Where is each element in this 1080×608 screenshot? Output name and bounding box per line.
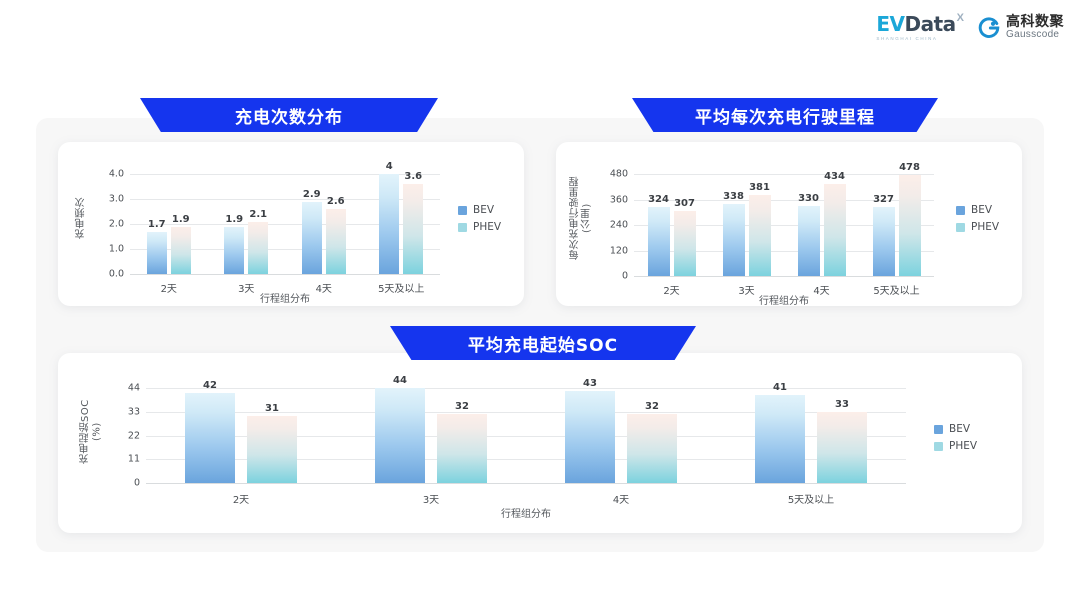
bar-bev[interactable]: 338 bbox=[723, 204, 745, 276]
bar-group: 338381 bbox=[709, 164, 784, 276]
bar-value-label: 1.9 bbox=[172, 214, 190, 225]
bar-value-label: 3.6 bbox=[404, 171, 422, 182]
bar-group: 4133 bbox=[716, 379, 906, 483]
legend-label: BEV bbox=[971, 204, 992, 216]
bar-bev[interactable]: 327 bbox=[873, 207, 895, 276]
chart-legend: BEVPHEV bbox=[934, 423, 977, 452]
chart-title-banner-1: 充电次数分布 bbox=[140, 98, 438, 132]
bar-value-label: 2.9 bbox=[303, 189, 321, 200]
bar-group: 4231 bbox=[146, 379, 336, 483]
bar-group: 43.6 bbox=[363, 164, 441, 274]
bar-value-label: 32 bbox=[645, 401, 659, 412]
bar-group: 2.92.6 bbox=[285, 164, 363, 274]
slide-page: EVData X SHANGHAI CHINA 高科数聚 Gausscode 充… bbox=[0, 0, 1080, 608]
bar-value-label: 1.7 bbox=[148, 219, 166, 230]
bar-value-label: 4 bbox=[386, 161, 393, 172]
bar-phev[interactable]: 381 bbox=[749, 195, 771, 276]
chart-title-banner-3: 平均充电起始SOC bbox=[390, 326, 696, 360]
legend-item-bev[interactable]: BEV bbox=[934, 423, 977, 435]
bar-value-label: 2.6 bbox=[327, 196, 345, 207]
legend-swatch-bev bbox=[956, 206, 965, 215]
chart-legend: BEVPHEV bbox=[956, 204, 999, 233]
bar-phev[interactable]: 2.6 bbox=[326, 209, 346, 274]
y-axis-tick: 44 bbox=[100, 383, 140, 394]
y-axis-tick: 0.0 bbox=[84, 269, 124, 280]
legend-swatch-phev bbox=[934, 442, 943, 451]
chart-card-charging-frequency: 充电频次0.01.02.03.04.01.71.92天1.92.13天2.92.… bbox=[58, 142, 524, 306]
evdata-suffix: Data bbox=[905, 12, 956, 36]
legend-item-phev[interactable]: PHEV bbox=[934, 440, 977, 452]
bar-value-label: 42 bbox=[203, 380, 217, 391]
y-axis-tick: 360 bbox=[588, 194, 628, 205]
bar-value-label: 307 bbox=[674, 198, 695, 209]
bar-value-label: 327 bbox=[873, 194, 894, 205]
bar-bev[interactable]: 4 bbox=[379, 174, 399, 274]
chart-mileage-per-charge: 每次充电行驶里程 (公里)01202403604803243072天338381… bbox=[556, 142, 1022, 306]
x-axis-label: 行程组分布 bbox=[634, 292, 934, 307]
x-axis-label: 行程组分布 bbox=[130, 290, 440, 305]
legend-item-bev[interactable]: BEV bbox=[956, 204, 999, 216]
brand-logo-row: EVData X SHANGHAI CHINA 高科数聚 Gausscode bbox=[876, 14, 1064, 41]
x-axis-category-label: 2天 bbox=[146, 491, 336, 506]
x-axis-category-label: 5天及以上 bbox=[716, 491, 906, 506]
bar-group: 1.71.9 bbox=[130, 164, 208, 274]
y-axis-tick: 1.0 bbox=[84, 244, 124, 255]
legend-label: BEV bbox=[949, 423, 970, 435]
y-axis-tick: 480 bbox=[588, 169, 628, 180]
bar-value-label: 41 bbox=[773, 382, 787, 393]
bar-phev[interactable]: 434 bbox=[824, 184, 846, 276]
y-axis-tick: 4.0 bbox=[84, 169, 124, 180]
bar-group: 324307 bbox=[634, 164, 709, 276]
bar-phev[interactable]: 32 bbox=[627, 414, 677, 483]
bar-value-label: 1.9 bbox=[225, 214, 243, 225]
evdata-prefix: EV bbox=[876, 12, 904, 36]
y-axis-tick: 0 bbox=[588, 271, 628, 282]
legend-item-phev[interactable]: PHEV bbox=[458, 221, 501, 233]
bar-bev[interactable]: 330 bbox=[798, 206, 820, 276]
y-axis-tick: 3.0 bbox=[84, 194, 124, 205]
bar-value-label: 31 bbox=[265, 403, 279, 414]
evdata-logo: EVData X SHANGHAI CHINA bbox=[876, 14, 964, 41]
bar-value-label: 32 bbox=[455, 401, 469, 412]
gausscode-text: 高科数聚 Gausscode bbox=[1006, 15, 1064, 40]
bar-phev[interactable]: 478 bbox=[899, 175, 921, 276]
legend-swatch-bev bbox=[458, 206, 467, 215]
y-axis-tick: 0 bbox=[100, 478, 140, 489]
bar-value-label: 324 bbox=[648, 194, 669, 205]
chart-charging-frequency: 充电频次0.01.02.03.04.01.71.92天1.92.13天2.92.… bbox=[58, 142, 524, 306]
gausscode-cn-name: 高科数聚 bbox=[1006, 15, 1064, 30]
bar-group: 4432 bbox=[336, 379, 526, 483]
evdata-superscript: X bbox=[957, 12, 964, 24]
bar-phev[interactable]: 2.1 bbox=[248, 222, 268, 275]
chart-card-start-soc: 充电起始SOC (%)01122334442312天44323天43324天41… bbox=[58, 353, 1022, 533]
bar-phev[interactable]: 31 bbox=[247, 416, 297, 483]
x-axis-category-label: 4天 bbox=[526, 491, 716, 506]
bar-bev[interactable]: 324 bbox=[648, 207, 670, 276]
gausscode-en-name: Gausscode bbox=[1006, 30, 1064, 41]
evdata-tagline: SHANGHAI CHINA bbox=[876, 36, 937, 41]
bar-phev[interactable]: 3.6 bbox=[403, 184, 423, 274]
bar-value-label: 2.1 bbox=[249, 209, 267, 220]
bar-value-label: 381 bbox=[749, 182, 770, 193]
bar-phev[interactable]: 33 bbox=[817, 412, 867, 483]
gausscode-logo-icon bbox=[978, 17, 1000, 39]
x-axis-line bbox=[634, 276, 934, 277]
legend-label: PHEV bbox=[473, 221, 501, 233]
gausscode-logo: 高科数聚 Gausscode bbox=[978, 15, 1064, 40]
y-axis-tick: 33 bbox=[100, 407, 140, 418]
chart-start-soc: 充电起始SOC (%)01122334442312天44323天43324天41… bbox=[58, 353, 1022, 533]
bar-value-label: 434 bbox=[824, 171, 845, 182]
x-axis-line bbox=[130, 274, 440, 275]
y-axis-tick: 240 bbox=[588, 220, 628, 231]
chart-card-mileage-per-charge: 每次充电行驶里程 (公里)01202403604803243072天338381… bbox=[556, 142, 1022, 306]
x-axis-line bbox=[146, 483, 906, 484]
bar-value-label: 44 bbox=[393, 375, 407, 386]
x-axis-category-label: 3天 bbox=[336, 491, 526, 506]
bar-value-label: 33 bbox=[835, 399, 849, 410]
bar-group: 1.92.1 bbox=[208, 164, 286, 274]
bar-phev[interactable]: 307 bbox=[674, 211, 696, 276]
bar-value-label: 43 bbox=[583, 378, 597, 389]
bar-bev[interactable]: 1.9 bbox=[224, 227, 244, 275]
legend-label: PHEV bbox=[971, 221, 999, 233]
bar-bev[interactable]: 41 bbox=[755, 395, 805, 483]
legend-item-phev[interactable]: PHEV bbox=[956, 221, 999, 233]
legend-swatch-phev bbox=[956, 223, 965, 232]
bar-bev[interactable]: 42 bbox=[185, 393, 235, 483]
bar-bev[interactable]: 44 bbox=[375, 388, 425, 483]
bar-bev[interactable]: 2.9 bbox=[302, 202, 322, 275]
bar-bev[interactable]: 1.7 bbox=[147, 232, 167, 275]
bar-value-label: 338 bbox=[723, 191, 744, 202]
y-axis-tick: 120 bbox=[588, 245, 628, 256]
bar-bev[interactable]: 43 bbox=[565, 391, 615, 483]
y-axis-tick: 22 bbox=[100, 430, 140, 441]
bar-phev[interactable]: 1.9 bbox=[171, 227, 191, 275]
chart-title-banner-2: 平均每次充电行驶里程 bbox=[632, 98, 938, 132]
evdata-text: EVData bbox=[876, 14, 955, 34]
chart-legend: BEVPHEV bbox=[458, 204, 501, 233]
bar-group: 4332 bbox=[526, 379, 716, 483]
legend-label: PHEV bbox=[949, 440, 977, 452]
bar-group: 327478 bbox=[859, 164, 934, 276]
legend-label: BEV bbox=[473, 204, 494, 216]
legend-item-bev[interactable]: BEV bbox=[458, 204, 501, 216]
x-axis-label: 行程组分布 bbox=[146, 505, 906, 520]
bar-phev[interactable]: 32 bbox=[437, 414, 487, 483]
bar-value-label: 478 bbox=[899, 162, 920, 173]
bar-value-label: 330 bbox=[798, 193, 819, 204]
y-axis-tick: 2.0 bbox=[84, 219, 124, 230]
y-axis-tick: 11 bbox=[100, 454, 140, 465]
legend-swatch-bev bbox=[934, 425, 943, 434]
evdata-wordmark: EVData X bbox=[876, 14, 964, 34]
bar-group: 330434 bbox=[784, 164, 859, 276]
legend-swatch-phev bbox=[458, 223, 467, 232]
